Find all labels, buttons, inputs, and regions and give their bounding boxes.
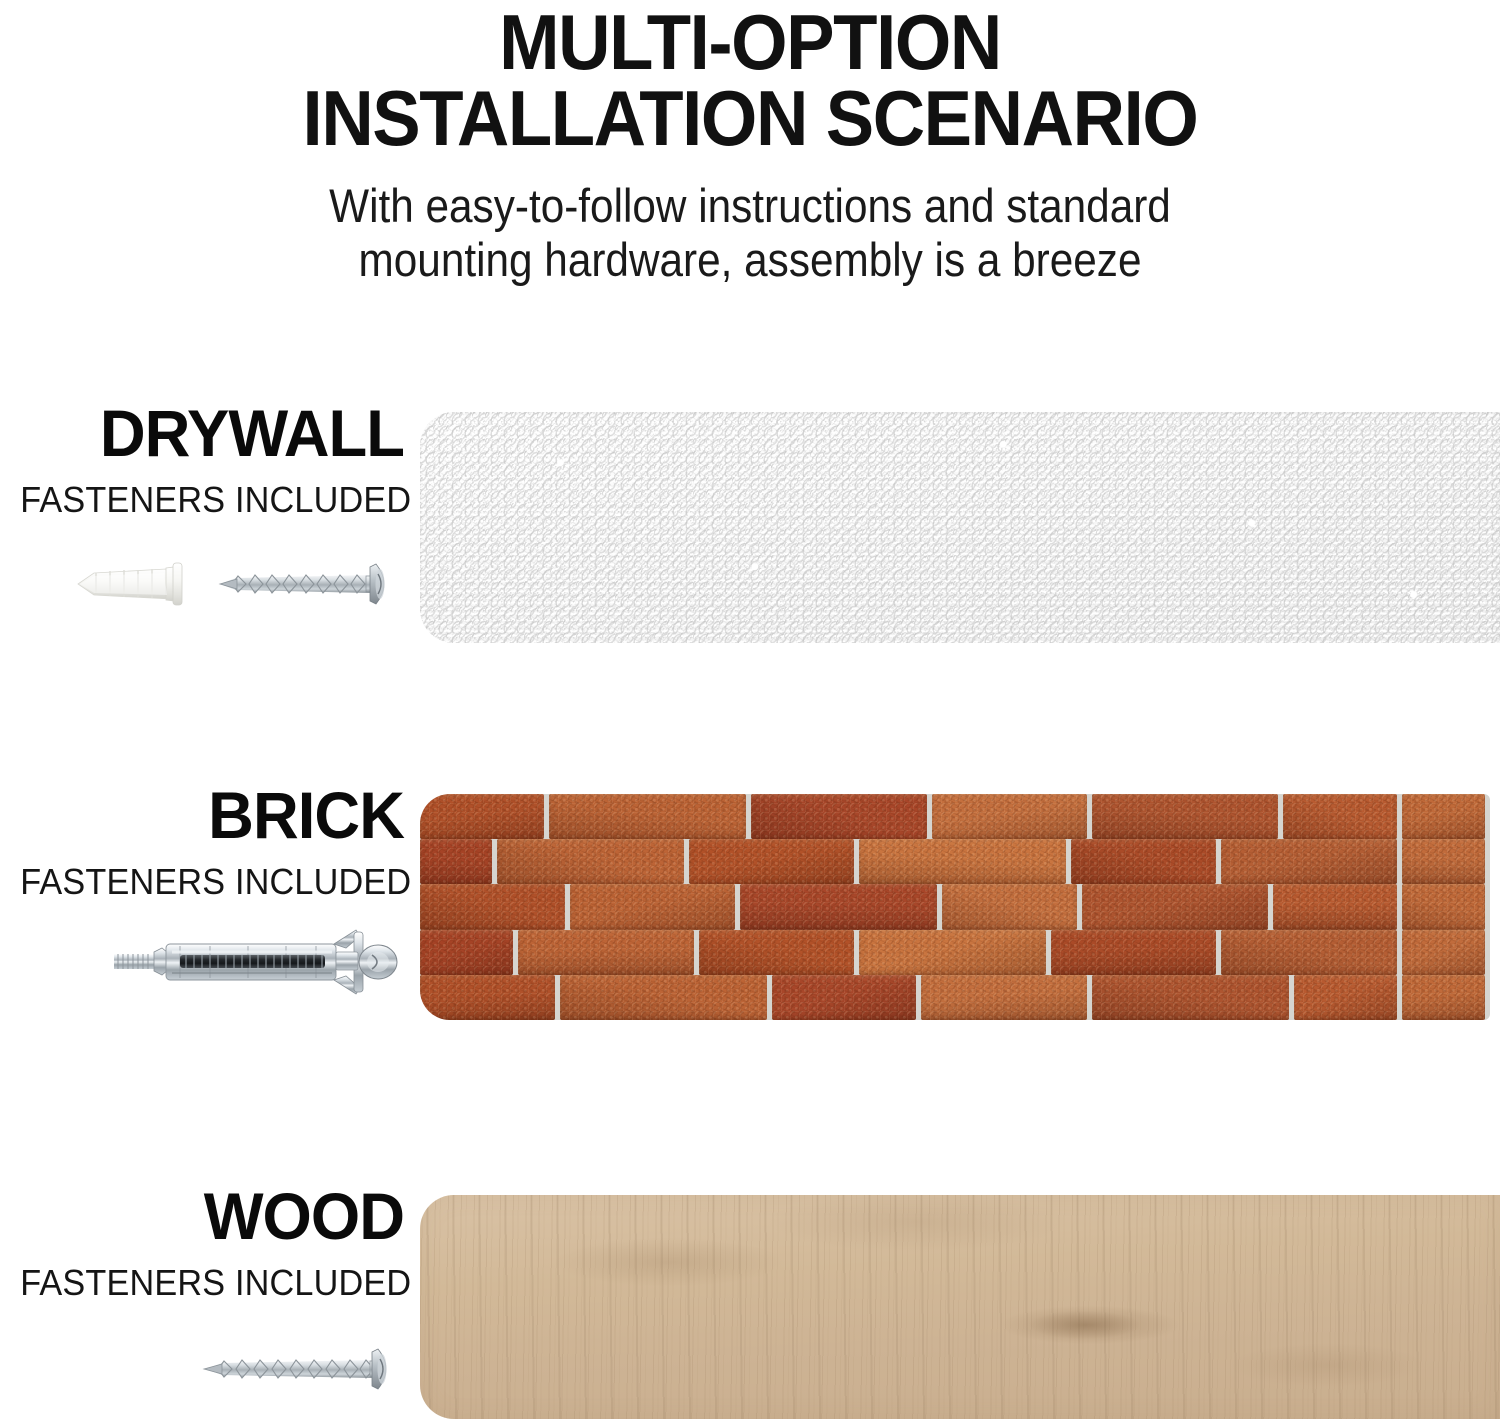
material-row-brick: BRICK FASTENERS INCLUDED bbox=[0, 782, 1500, 1032]
brick-unit bbox=[1294, 975, 1398, 1020]
drywall-fastener-illustration bbox=[70, 554, 400, 614]
brick-course bbox=[420, 794, 1490, 839]
plastic-wall-anchor-icon bbox=[78, 563, 182, 605]
page-subtitle: With easy-to-follow instructions and sta… bbox=[75, 179, 1425, 287]
brick-hardware-group bbox=[0, 922, 404, 996]
drywall-hardware-group bbox=[0, 540, 404, 614]
fasteners-included-wood: FASTENERS INCLUDED bbox=[20, 1265, 404, 1301]
brick-unit bbox=[518, 930, 694, 975]
brick-unit bbox=[1221, 839, 1397, 884]
material-name-drywall: DRYWALL bbox=[16, 400, 404, 466]
material-row-drywall: DRYWALL FASTENERS INCLUDED bbox=[0, 400, 1500, 660]
brick-unit bbox=[1221, 930, 1397, 975]
infographic-page: MULTI-OPTION INSTALLATION SCENARIO With … bbox=[0, 0, 1500, 1419]
brick-unit bbox=[1051, 930, 1217, 975]
brick-unit bbox=[942, 884, 1077, 929]
wood-texture-swatch bbox=[420, 1195, 1500, 1419]
brick-texture-swatch bbox=[420, 794, 1490, 1020]
wood-hardware-group bbox=[0, 1323, 404, 1397]
brick-unit bbox=[1402, 975, 1485, 1020]
brick-unit bbox=[932, 794, 1087, 839]
header: MULTI-OPTION INSTALLATION SCENARIO With … bbox=[0, 0, 1500, 287]
fasteners-included-brick: FASTENERS INCLUDED bbox=[20, 864, 404, 900]
material-name-brick: BRICK bbox=[16, 782, 404, 848]
brick-course bbox=[420, 839, 1490, 884]
brick-unit bbox=[921, 975, 1087, 1020]
fasteners-included-drywall: FASTENERS INCLUDED bbox=[20, 482, 404, 518]
brick-unit bbox=[689, 839, 855, 884]
brick-unit bbox=[1071, 839, 1216, 884]
material-row-wood: WOOD FASTENERS INCLUDED bbox=[0, 1183, 1500, 1419]
brick-unit bbox=[420, 794, 544, 839]
brick-unit bbox=[1402, 930, 1485, 975]
brick-unit bbox=[420, 975, 555, 1020]
drywall-label-block: DRYWALL FASTENERS INCLUDED bbox=[0, 400, 408, 614]
brick-unit bbox=[1092, 794, 1278, 839]
brick-course bbox=[420, 884, 1490, 929]
brick-unit bbox=[1082, 884, 1268, 929]
brick-unit bbox=[1402, 884, 1485, 929]
brick-unit bbox=[772, 975, 917, 1020]
washer-head-screw-icon bbox=[220, 564, 385, 604]
material-name-wood: WOOD bbox=[16, 1183, 404, 1249]
subtitle-line-1: With easy-to-follow instructions and sta… bbox=[75, 179, 1425, 233]
brick-unit bbox=[859, 930, 1045, 975]
brick-course bbox=[420, 930, 1490, 975]
brick-unit bbox=[1092, 975, 1289, 1020]
brick-unit bbox=[420, 884, 565, 929]
brick-unit bbox=[549, 794, 746, 839]
brick-unit bbox=[570, 884, 736, 929]
drywall-texture-swatch bbox=[420, 412, 1500, 643]
brick-course bbox=[420, 975, 1490, 1020]
brick-unit bbox=[859, 839, 1066, 884]
brick-unit bbox=[497, 839, 683, 884]
molly-bolt-anchor-icon bbox=[114, 930, 397, 994]
title-line-2: INSTALLATION SCENARIO bbox=[53, 80, 1448, 156]
subtitle-line-2: mounting hardware, assembly is a breeze bbox=[75, 233, 1425, 287]
brick-label-block: BRICK FASTENERS INCLUDED bbox=[0, 782, 408, 996]
brick-unit bbox=[751, 794, 927, 839]
wood-fastener-illustration bbox=[200, 1341, 400, 1397]
brick-unit bbox=[1283, 794, 1397, 839]
brick-unit bbox=[1273, 884, 1397, 929]
brick-unit bbox=[1402, 839, 1485, 884]
brick-unit bbox=[420, 839, 492, 884]
brick-unit bbox=[560, 975, 767, 1020]
brick-unit bbox=[420, 930, 513, 975]
brick-unit bbox=[1402, 794, 1485, 839]
page-title: MULTI-OPTION INSTALLATION SCENARIO bbox=[53, 4, 1448, 157]
brick-fastener-illustration bbox=[110, 928, 400, 996]
title-line-1: MULTI-OPTION bbox=[53, 4, 1448, 80]
wood-label-block: WOOD FASTENERS INCLUDED bbox=[0, 1183, 408, 1397]
brick-unit bbox=[699, 930, 854, 975]
washer-head-wood-screw-icon bbox=[204, 1349, 387, 1389]
brick-unit bbox=[740, 884, 937, 929]
